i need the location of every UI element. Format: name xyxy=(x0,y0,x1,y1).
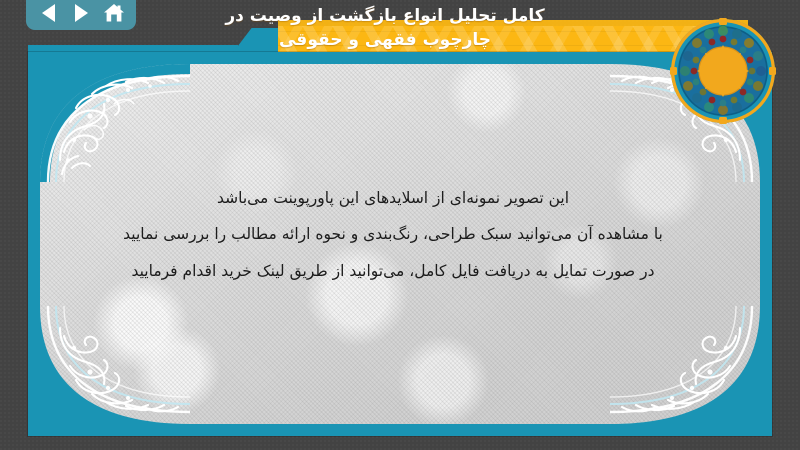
page-title-line2: چارچوب فقهی و حقوقی xyxy=(14,28,756,52)
body-line-3: در صورت تمایل به دریافت فایل کامل، می‌تو… xyxy=(40,253,746,289)
persian-medallion-icon xyxy=(669,17,777,125)
body-line-1: این تصویر نمونه‌ای از اسلایدهای این پاور… xyxy=(40,180,746,216)
slide-stage: کامل تحلیل انواع بازگشت از وصیت در چارچو… xyxy=(0,0,800,450)
page-title-line1: کامل تحلیل انواع بازگشت از وصیت در xyxy=(14,4,756,28)
slide-body-text: این تصویر نمونه‌ای از اسلایدهای این پاور… xyxy=(40,180,746,289)
slide-frame: این تصویر نمونه‌ای از اسلایدهای این پاور… xyxy=(28,52,772,436)
body-line-2: با مشاهده آن می‌توانید سبک طراحی، رنگ‌بن… xyxy=(40,216,746,252)
